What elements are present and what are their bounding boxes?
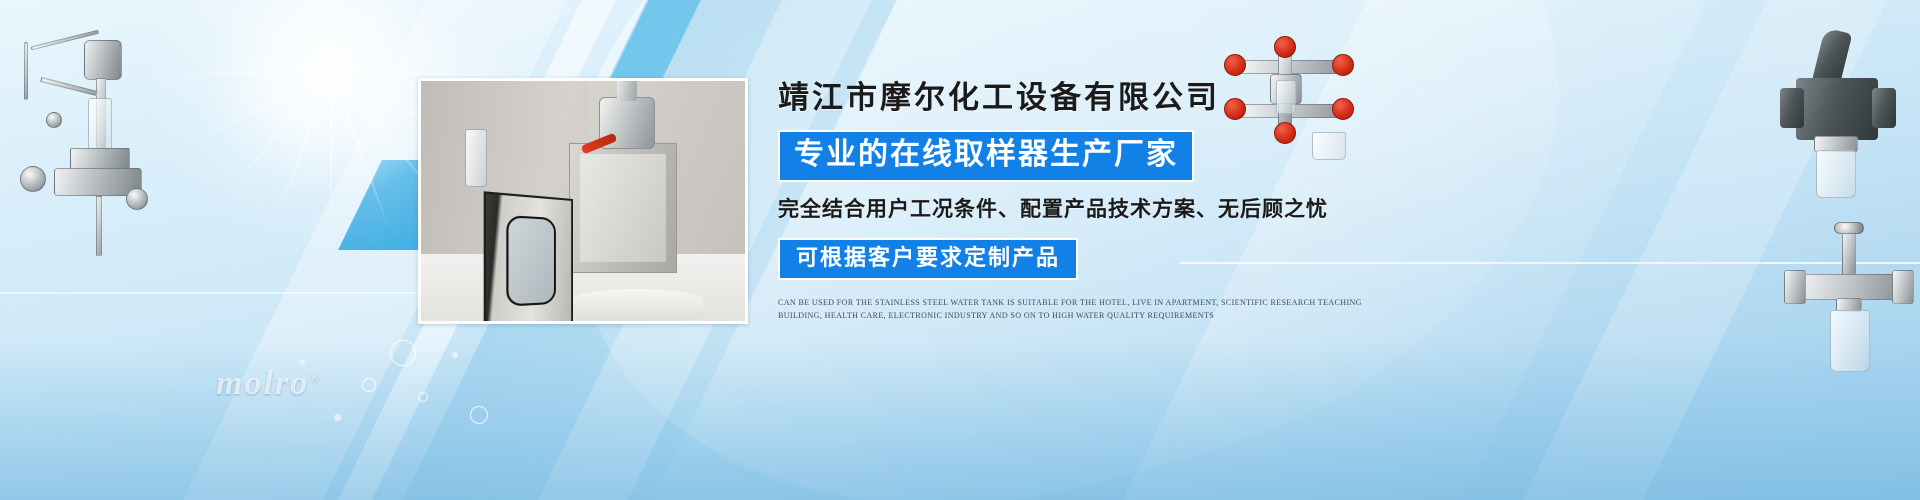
red-handwheel (1224, 54, 1246, 76)
valve-body (1796, 78, 1878, 140)
water-bubble (470, 406, 488, 424)
photo-door-window (506, 215, 556, 307)
water-bubble (390, 340, 416, 366)
water-bubble (418, 392, 428, 402)
photo-valve-stem (617, 81, 637, 101)
valve-body (70, 148, 130, 170)
sample-bottle (1312, 132, 1346, 160)
red-handwheel (1332, 54, 1354, 76)
sample-bottle (1816, 150, 1856, 198)
photo-cabinet-interior (580, 154, 666, 262)
sight-glass (88, 98, 112, 150)
subheadline-text: 完全结合用户工况条件、配置产品技术方案、无后顾之忧 (778, 196, 1398, 224)
sample-bottle (1830, 310, 1870, 372)
handwheel (46, 112, 62, 128)
sight-glass (1276, 80, 1296, 114)
bottom-gradient-band (0, 340, 1920, 500)
red-handwheel (1274, 122, 1296, 144)
sampler-stem (1842, 230, 1856, 276)
product-photo (418, 78, 748, 324)
handwheel (126, 188, 148, 210)
sampler-flange-left (1784, 270, 1806, 304)
valve-flange-left (1780, 88, 1804, 128)
sampler-tube (24, 42, 28, 100)
left-sampler-assembly-graphic (0, 20, 200, 320)
english-description: CAN BE USED FOR THE STAINLESS STEEL WATE… (778, 296, 1378, 322)
customization-badge: 可根据客户要求定制产品 (778, 238, 1078, 280)
red-handwheel (1224, 98, 1246, 120)
photo-sample-bottle (465, 129, 487, 187)
watermark-logo: molro® (216, 365, 322, 403)
water-bubble (362, 378, 376, 392)
handwheel (1834, 222, 1864, 234)
sun-ray-3 (330, 70, 332, 240)
red-handwheel (1274, 36, 1296, 58)
water-bubble (452, 352, 458, 358)
photo-cabinet-door (484, 191, 573, 321)
valve-flange-right (1872, 88, 1896, 128)
photo-sampler-cabinet (569, 143, 677, 273)
handwheel (20, 166, 46, 192)
right-cross-valve-manifold-graphic (1216, 36, 1376, 156)
right-dark-valve-body-graphic (1780, 26, 1920, 206)
water-bubble (334, 414, 341, 421)
product-photo-image (421, 81, 745, 321)
watermark-text: molro (216, 365, 309, 402)
promotional-banner: 靖江市摩尔化工设备有限公司 专业的在线取样器生产厂家 完全结合用户工况条件、配置… (0, 0, 1920, 500)
sampler-body (1796, 274, 1902, 300)
sampler-probe (96, 196, 102, 256)
photo-base-stand (571, 289, 703, 319)
red-handwheel (1332, 98, 1354, 120)
sampler-head (84, 40, 122, 80)
watermark-registered-mark: ® (309, 371, 321, 386)
headline-badge: 专业的在线取样器生产厂家 (778, 130, 1194, 182)
headline-text: 专业的在线取样器生产厂家 (794, 138, 1178, 171)
right-bottom-sampler-graphic (1790, 230, 1920, 410)
sampler-flange-right (1892, 270, 1914, 304)
customization-text: 可根据客户要求定制产品 (796, 245, 1060, 270)
